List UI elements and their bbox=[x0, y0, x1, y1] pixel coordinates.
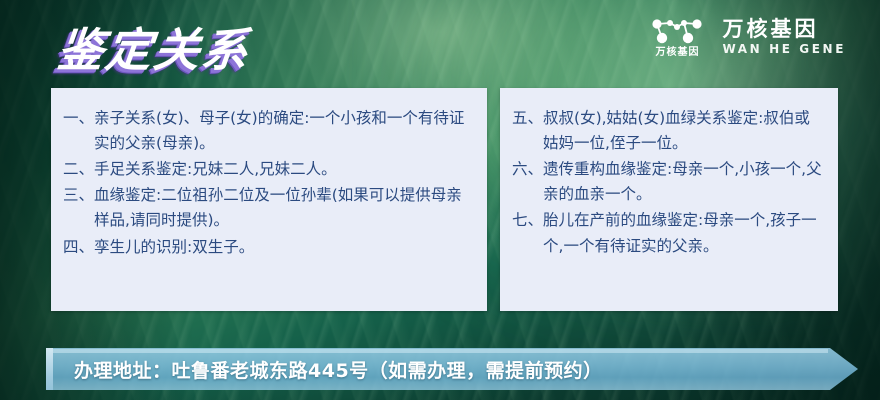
brand-name-cn: 万核基因 bbox=[722, 19, 818, 40]
address-banner: 办理地址：吐鲁番老城东路445号（如需办理，需提前预约） bbox=[46, 348, 858, 390]
list-item-text: 叔叔(女),姑姑(女)血绿关系鉴定:叔伯或姑妈一位,侄子一位。 bbox=[543, 106, 824, 156]
list-item-text: 遗传重构血缘鉴定:母亲一个,小孩一个,父亲的血亲一个。 bbox=[543, 157, 824, 207]
list-item: 一、 亲子关系(女)、母子(女)的确定:一个小孩和一个有待证实的父亲(母亲)。 bbox=[63, 106, 473, 156]
list-item-text: 亲子关系(女)、母子(女)的确定:一个小孩和一个有待证实的父亲(母亲)。 bbox=[94, 106, 473, 156]
poster-root: 鉴定关系 bbox=[0, 0, 880, 400]
list-item-text: 孪生儿的识别:双生子。 bbox=[94, 235, 473, 260]
brand-logo: 万核基因 万核基因 WAN HE GENE bbox=[648, 16, 846, 58]
list-item-text: 血缘鉴定:二位祖孙二位及一位孙辈(如果可以提供母亲样品,请同时提供)。 bbox=[94, 183, 473, 233]
list-item: 二、 手足关系鉴定:兄妹二人,兄妹二人。 bbox=[63, 157, 473, 182]
service-list-panel-right: 五、 叔叔(女),姑姑(女)血绿关系鉴定:叔伯或姑妈一位,侄子一位。 六、 遗传… bbox=[500, 88, 838, 311]
list-item-text: 手足关系鉴定:兄妹二人,兄妹二人。 bbox=[94, 157, 473, 182]
address-banner-left-edge bbox=[46, 348, 53, 390]
list-item-number: 六、 bbox=[512, 157, 543, 207]
list-item: 三、 血缘鉴定:二位祖孙二位及一位孙辈(如果可以提供母亲样品,请同时提供)。 bbox=[63, 183, 473, 233]
content-panels: 一、 亲子关系(女)、母子(女)的确定:一个小孩和一个有待证实的父亲(母亲)。 … bbox=[51, 88, 838, 311]
brand-wordmark: 万核基因 WAN HE GENE bbox=[722, 19, 846, 55]
brand-mark-label: 万核基因 bbox=[655, 48, 699, 58]
brand-mark: 万核基因 bbox=[648, 16, 706, 58]
service-list-panel-left: 一、 亲子关系(女)、母子(女)的确定:一个小孩和一个有待证实的父亲(母亲)。 … bbox=[51, 88, 487, 311]
list-item: 六、 遗传重构血缘鉴定:母亲一个,小孩一个,父亲的血亲一个。 bbox=[512, 157, 824, 207]
list-item-number: 四、 bbox=[63, 235, 94, 260]
address-banner-text: 办理地址：吐鲁番老城东路445号（如需办理，需提前预约） bbox=[74, 348, 603, 390]
list-item-text: 胎儿在产前的血缘鉴定:母亲一个,孩子一个,一个有待证实的父亲。 bbox=[543, 208, 824, 258]
list-item: 七、 胎儿在产前的血缘鉴定:母亲一个,孩子一个,一个有待证实的父亲。 bbox=[512, 208, 824, 258]
list-item-number: 五、 bbox=[512, 106, 543, 156]
brand-name-en: WAN HE GENE bbox=[722, 43, 846, 55]
list-item-number: 二、 bbox=[63, 157, 94, 182]
list-item-number: 一、 bbox=[63, 106, 94, 156]
molecule-dna-icon bbox=[648, 16, 706, 46]
list-item: 四、 孪生儿的识别:双生子。 bbox=[63, 235, 473, 260]
list-item-number: 三、 bbox=[63, 183, 94, 233]
page-title: 鉴定关系 bbox=[55, 14, 254, 80]
list-item-number: 七、 bbox=[512, 208, 543, 258]
list-item: 五、 叔叔(女),姑姑(女)血绿关系鉴定:叔伯或姑妈一位,侄子一位。 bbox=[512, 106, 824, 156]
